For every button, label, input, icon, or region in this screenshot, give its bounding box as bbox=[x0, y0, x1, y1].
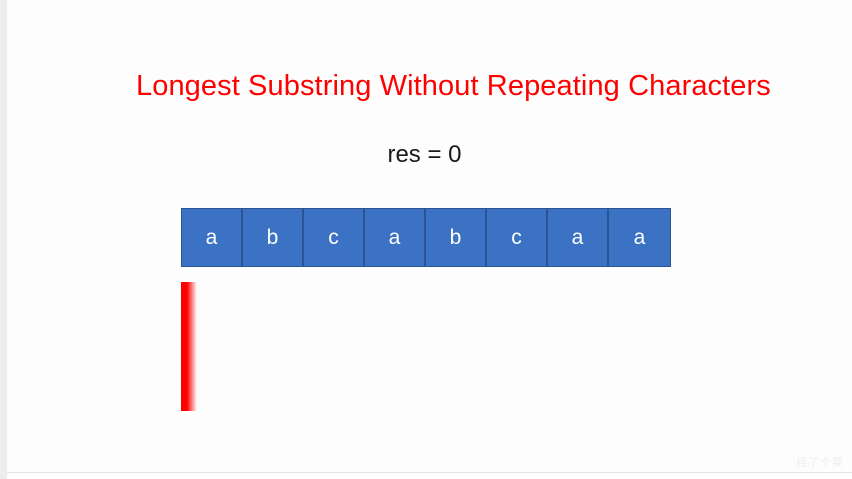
left-gutter bbox=[0, 0, 7, 479]
array-cell[interactable]: c bbox=[304, 209, 365, 266]
array-cell[interactable]: a bbox=[609, 209, 670, 266]
array-cell[interactable]: c bbox=[487, 209, 548, 266]
array-cell[interactable]: a bbox=[182, 209, 243, 266]
watermark: 挂了个菜 bbox=[796, 457, 844, 470]
page-title: Longest Substring Without Repeating Char… bbox=[136, 69, 736, 103]
array-cell[interactable]: b bbox=[426, 209, 487, 266]
character-array: a b c a b c a a bbox=[181, 208, 671, 267]
array-cell[interactable]: b bbox=[243, 209, 304, 266]
array-cell[interactable]: a bbox=[548, 209, 609, 266]
slide-frame: Longest Substring Without Repeating Char… bbox=[0, 0, 852, 479]
result-value-label: res = 0 bbox=[181, 140, 668, 169]
bottom-divider bbox=[7, 472, 852, 473]
left-pointer-bar bbox=[181, 282, 197, 411]
array-cell[interactable]: a bbox=[365, 209, 426, 266]
